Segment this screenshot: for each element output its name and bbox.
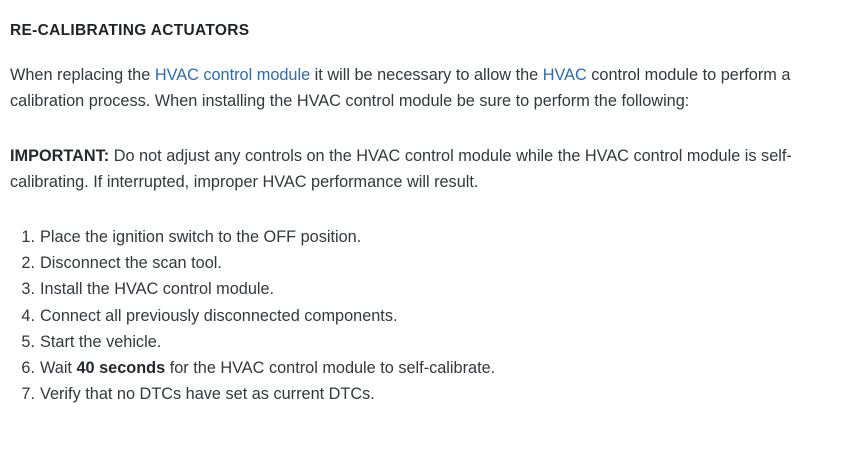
intro-text-segment-1: When replacing the xyxy=(10,66,155,84)
step-text: Install the HVAC control module. xyxy=(40,280,274,298)
service-document: RE-CALIBRATING ACTUATORS When replacing … xyxy=(0,0,858,407)
step-text-prefix: Wait xyxy=(40,359,76,377)
intro-text-segment-2: it will be necessary to allow the xyxy=(310,66,543,84)
list-item: Install the HVAC control module. xyxy=(10,276,850,302)
important-label: IMPORTANT: xyxy=(10,147,109,165)
list-item: Connect all previously disconnected comp… xyxy=(10,303,850,329)
step-text: Disconnect the scan tool. xyxy=(40,254,222,272)
step-duration-emphasis: 40 seconds xyxy=(76,359,165,377)
step-text: Start the vehicle. xyxy=(40,333,161,351)
list-item: Verify that no DTCs have set as current … xyxy=(10,381,850,407)
hvac-link[interactable]: HVAC xyxy=(543,66,587,84)
list-item: Wait 40 seconds for the HVAC control mod… xyxy=(10,355,850,381)
procedure-step-list: Place the ignition switch to the OFF pos… xyxy=(10,195,850,407)
important-paragraph: IMPORTANT: Do not adjust any controls on… xyxy=(10,114,850,195)
hvac-control-module-link[interactable]: HVAC control module xyxy=(155,66,310,84)
step-text: Verify that no DTCs have set as current … xyxy=(40,385,375,403)
step-text: Connect all previously disconnected comp… xyxy=(40,307,398,325)
list-item: Start the vehicle. xyxy=(10,329,850,355)
list-item: Place the ignition switch to the OFF pos… xyxy=(10,224,850,250)
step-text: Place the ignition switch to the OFF pos… xyxy=(40,228,361,246)
important-text: Do not adjust any controls on the HVAC c… xyxy=(10,147,792,191)
step-text-suffix: for the HVAC control module to self-cali… xyxy=(165,359,495,377)
list-item: Disconnect the scan tool. xyxy=(10,250,850,276)
page-title: RE-CALIBRATING ACTUATORS xyxy=(10,0,850,41)
intro-paragraph: When replacing the HVAC control module i… xyxy=(10,41,850,114)
